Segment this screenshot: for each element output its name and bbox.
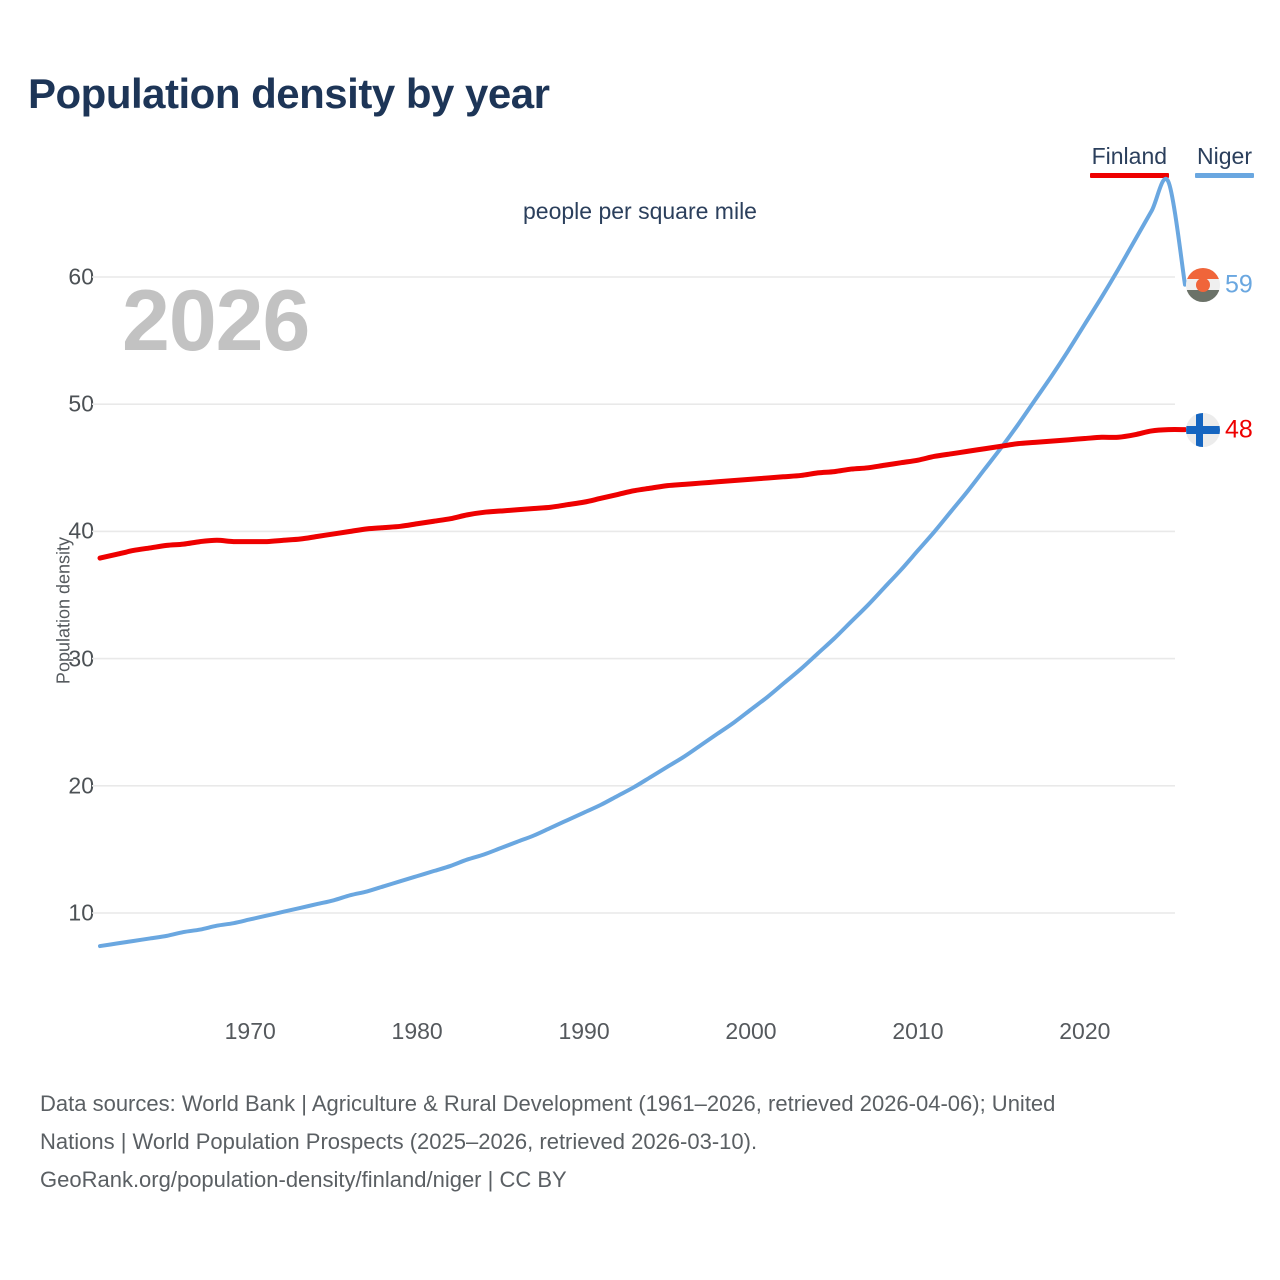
- footer-line-3[interactable]: GeoRank.org/population-density/finland/n…: [40, 1161, 1255, 1199]
- niger-flag-icon: [1186, 268, 1220, 302]
- footer-line-2: Nations | World Population Prospects (20…: [40, 1123, 1255, 1161]
- finland-flag-icon: [1186, 413, 1220, 447]
- chart-page: Population density by year Finland Niger…: [0, 0, 1280, 1280]
- series-line-niger: [100, 179, 1185, 946]
- footer-sources: Data sources: World Bank | Agriculture &…: [40, 1085, 1255, 1199]
- series-line-finland: [100, 430, 1185, 559]
- footer-line-1: Data sources: World Bank | Agriculture &…: [40, 1085, 1255, 1123]
- niger-end-label: 59: [1225, 270, 1253, 299]
- finland-end-label: 48: [1225, 415, 1253, 444]
